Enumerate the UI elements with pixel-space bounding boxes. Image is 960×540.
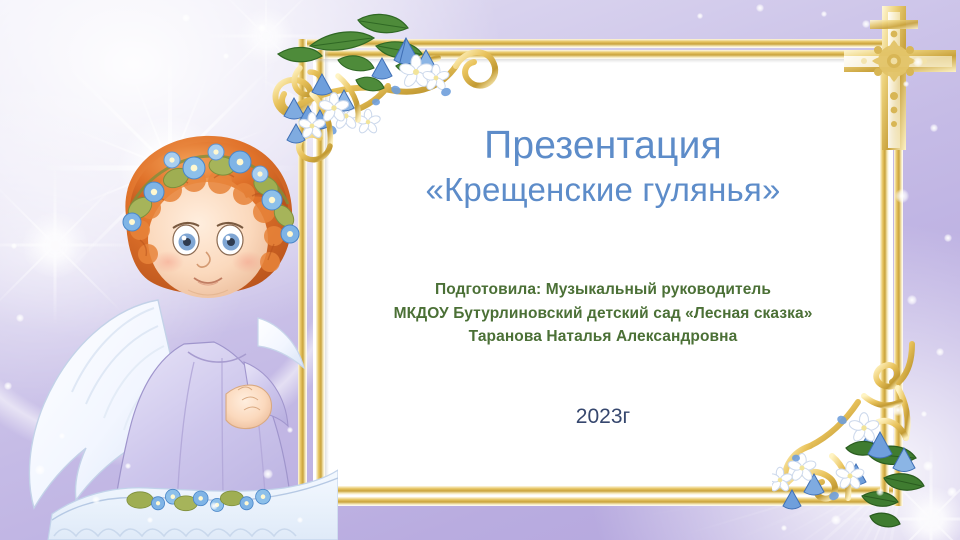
content-frame bbox=[313, 52, 893, 500]
author-line: МКДОУ Бутурлиновский детский сад «Лесная… bbox=[313, 302, 893, 326]
presentation-slide: Презентация «Крещенские гулянья» Подгото… bbox=[0, 0, 960, 540]
author-line: Подготовила: Музыкальный руководитель bbox=[313, 278, 893, 302]
year-block: 2023г bbox=[313, 405, 893, 429]
cherub-angel-illustration bbox=[8, 112, 338, 540]
year-text: 2023г bbox=[313, 405, 893, 429]
title-line-2: «Крещенские гулянья» bbox=[313, 171, 893, 210]
slide-title: Презентация «Крещенские гулянья» bbox=[313, 126, 893, 210]
author-credits: Подготовила: Музыкальный руководительМКД… bbox=[313, 278, 893, 349]
angel-hands bbox=[226, 385, 272, 429]
angel-head bbox=[125, 136, 292, 298]
title-line-1: Презентация bbox=[313, 126, 893, 167]
author-line: Таранова Наталья Александровна bbox=[313, 325, 893, 349]
